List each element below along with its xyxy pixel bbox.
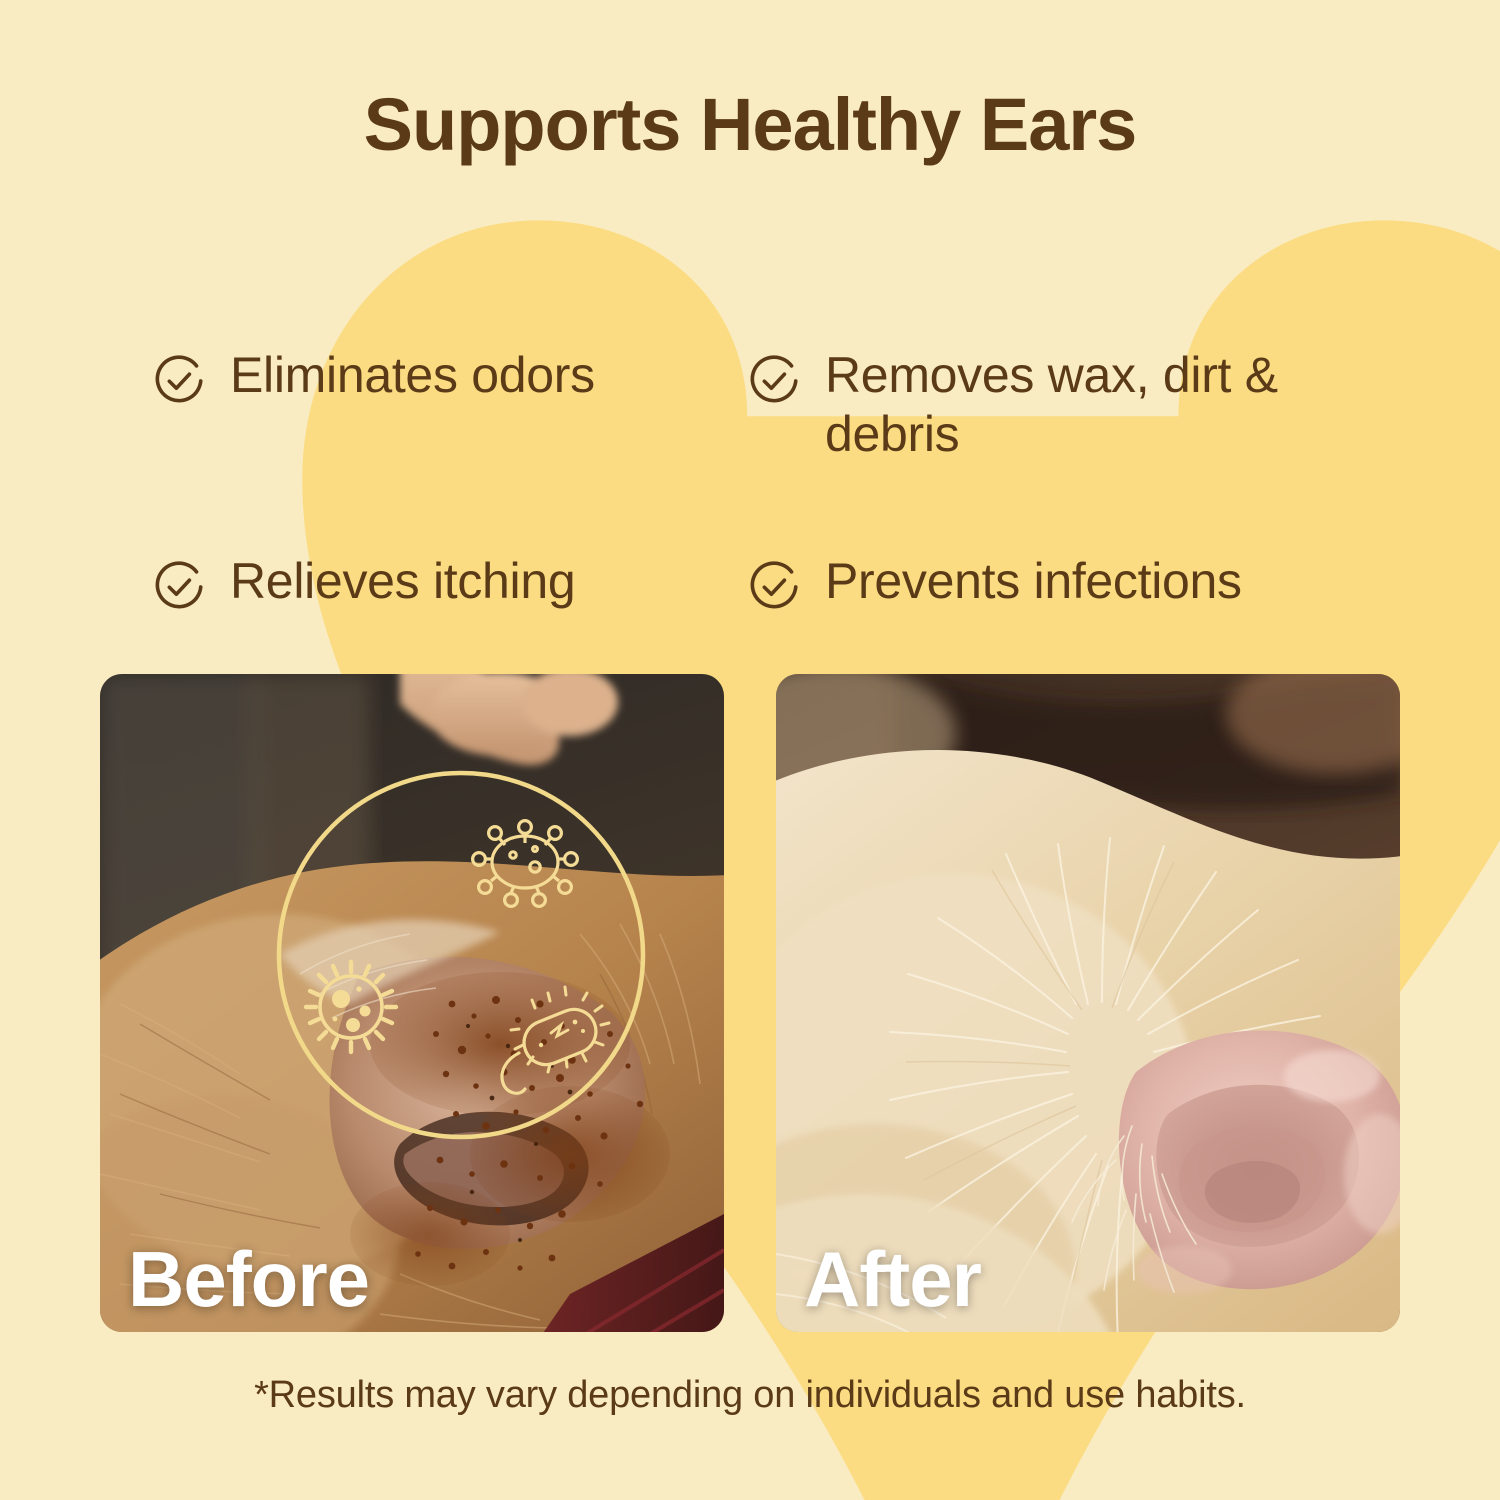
check-circle-icon [745,352,803,410]
before-label: Before [128,1240,369,1318]
benefit-item-relieves-itching: Relieves itching [150,552,745,616]
benefit-item-eliminates-odors: Eliminates odors [150,346,745,464]
benefit-label: Eliminates odors [230,346,595,405]
benefit-item-prevents-infections: Prevents infections [745,552,1370,616]
after-label: After [804,1240,981,1318]
page-title: Supports Healthy Ears [0,86,1500,164]
after-photo-clean-dog-ear [776,674,1400,1332]
check-circle-icon [150,352,208,410]
benefit-label: Relieves itching [230,552,575,611]
check-circle-icon [745,558,803,616]
after-photo-panel: After [776,674,1400,1332]
benefit-item-removes-wax-dirt-debris: Removes wax, dirt & debris [745,346,1370,464]
before-photo-dirty-dog-ear [100,674,724,1332]
benefits-list: Eliminates odors Removes wax, dirt & deb… [150,346,1370,616]
before-photo-panel: Before [100,674,724,1332]
before-after-comparison: Before [100,674,1400,1332]
benefit-label: Prevents infections [825,552,1242,611]
results-disclaimer: *Results may vary depending on individua… [0,1374,1500,1417]
check-circle-icon [150,558,208,616]
benefit-label: Removes wax, dirt & debris [825,346,1370,464]
product-benefits-infographic: Supports Healthy Ears Eliminates odors R… [0,0,1500,1500]
